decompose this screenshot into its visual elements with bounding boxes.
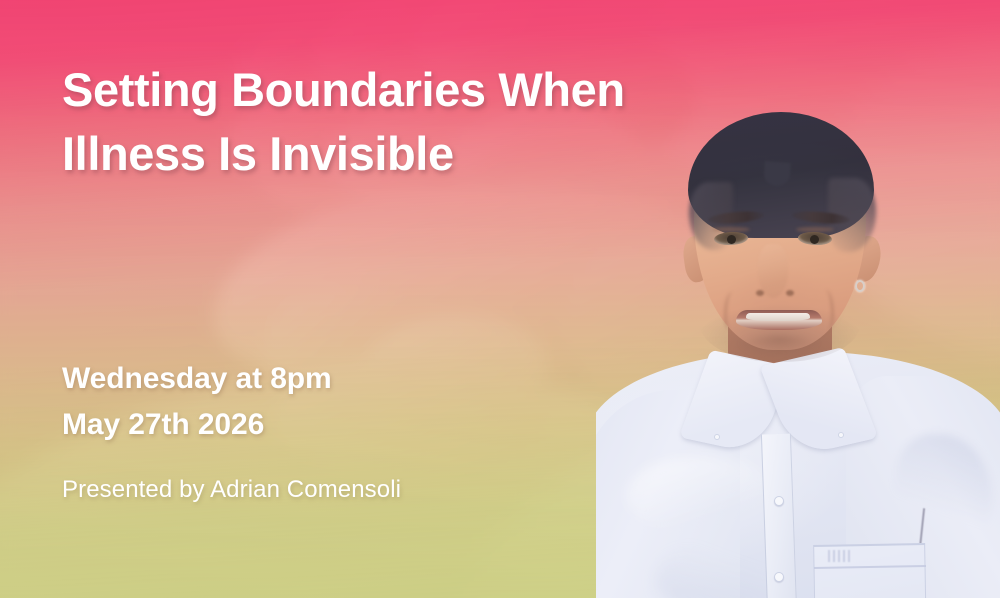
collar-button-left bbox=[714, 434, 720, 440]
headline: Setting Boundaries When Illness Is Invis… bbox=[62, 58, 742, 186]
schedule-date: May 27th 2026 bbox=[62, 402, 622, 448]
shirt-highlight bbox=[626, 456, 776, 536]
presenter-credit: Presented by Adrian Comensoli bbox=[62, 474, 622, 505]
smile-line-left bbox=[724, 292, 738, 330]
shirt-button-1 bbox=[774, 496, 784, 506]
earring-icon bbox=[855, 280, 865, 292]
collar-button-right bbox=[838, 432, 844, 438]
pupil-left bbox=[727, 235, 736, 244]
eyelid-left bbox=[712, 227, 750, 232]
schedule: Wednesday at 8pm May 27th 2026 bbox=[62, 356, 622, 448]
pupil-right bbox=[810, 235, 819, 244]
shirt-button-2 bbox=[774, 572, 784, 582]
headline-line-1: Setting Boundaries When bbox=[62, 58, 742, 122]
teeth bbox=[746, 313, 810, 321]
shirt-pocket-detail bbox=[828, 550, 850, 562]
nostril-left bbox=[756, 290, 764, 296]
headline-line-2: Illness Is Invisible bbox=[62, 122, 742, 186]
chin-shadow bbox=[736, 336, 822, 358]
eyelid-right bbox=[796, 227, 834, 232]
nostril-right bbox=[786, 290, 794, 296]
promo-graphic: Setting Boundaries When Illness Is Invis… bbox=[0, 0, 1000, 598]
schedule-time: Wednesday at 8pm bbox=[62, 356, 622, 402]
